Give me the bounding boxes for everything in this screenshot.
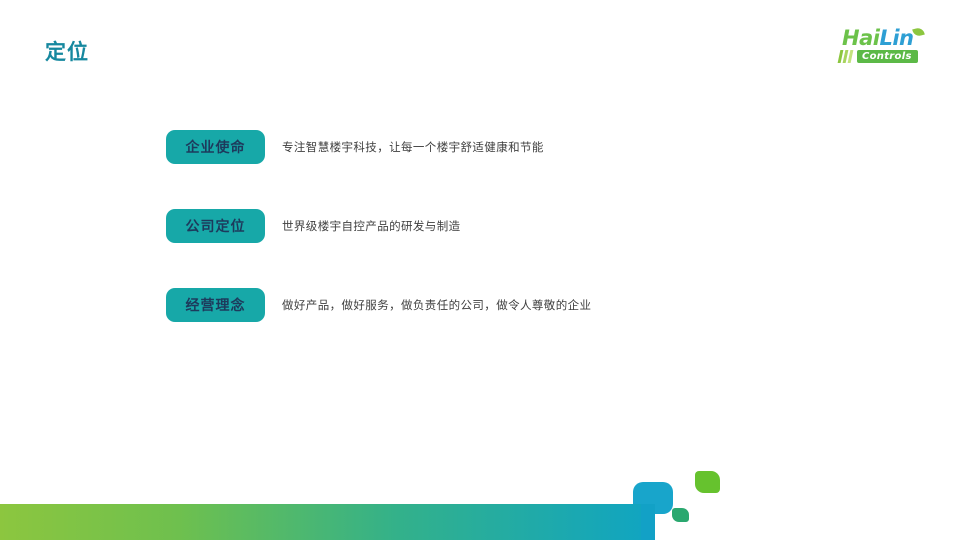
row-label-badge: 经营理念: [166, 288, 265, 322]
logo-word-lin: Lin: [879, 26, 913, 50]
row-description: 世界级楼宇自控产品的研发与制造: [282, 218, 461, 234]
hailin-controls-logo: HaiLin Controls: [837, 27, 933, 69]
list-item: 企业使命 专注智慧楼宇科技，让每一个楼宇舒适健康和节能: [166, 130, 866, 164]
slide-canvas: 定位 HaiLin Controls 企业使命 专注智慧楼宇科技，让每一个楼宇舒…: [0, 0, 960, 540]
logo-word-hai: Hai: [842, 26, 879, 50]
decorative-green-leaf-square: [695, 471, 720, 493]
leaf-icon: [912, 27, 925, 37]
content-rows: 企业使命 专注智慧楼宇科技，让每一个楼宇舒适健康和节能 公司定位 世界级楼宇自控…: [166, 130, 866, 322]
logo-banner-text: Controls: [857, 50, 918, 63]
row-label-badge: 公司定位: [166, 209, 265, 243]
list-item: 公司定位 世界级楼宇自控产品的研发与制造: [166, 209, 866, 243]
signal-bars-icon: [839, 50, 852, 63]
page-title: 定位: [45, 42, 89, 63]
logo-wordmark: HaiLin: [842, 27, 913, 49]
list-item: 经营理念 做好产品，做好服务，做负责任的公司，做令人尊敬的企业: [166, 288, 866, 322]
row-description: 专注智慧楼宇科技，让每一个楼宇舒适健康和节能: [282, 139, 544, 155]
decorative-gradient-bar: [0, 504, 641, 540]
decorative-teal-leaf-square: [672, 508, 689, 522]
row-description: 做好产品，做好服务，做负责任的公司，做令人尊敬的企业: [282, 297, 591, 313]
row-label-badge: 企业使命: [166, 130, 265, 164]
